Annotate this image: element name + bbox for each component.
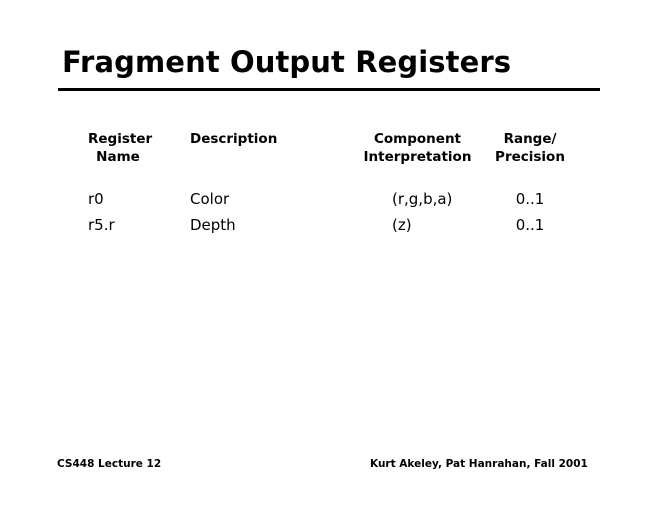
table-cell: r0 [70, 186, 170, 212]
table-column-cells: 0..1 0..1 [485, 186, 575, 238]
table-cell: (z) [355, 212, 480, 238]
title-divider [58, 88, 600, 91]
footer-lecture-label: CS448 Lecture 12 [57, 457, 161, 471]
column-header-line1: Range/ [485, 130, 575, 148]
table-column-cells: (r,g,b,a) (z) [355, 186, 480, 238]
column-header-line1: Description [190, 130, 350, 148]
column-header-component-interpretation: Component Interpretation [355, 130, 480, 166]
column-header-line1: Component [355, 130, 480, 148]
table-cell: Depth [180, 212, 350, 238]
column-header-range-precision: Range/ Precision [485, 130, 575, 166]
table-cell: Color [180, 186, 350, 212]
table-cell: r5.r [70, 212, 170, 238]
table-column-component-interpretation: Component Interpretation (r,g,b,a) (z) [355, 130, 480, 166]
table-column-register-name: Register Name r0 r5.r [70, 130, 170, 166]
column-header-line2: Precision [485, 148, 575, 166]
column-header-register-name: Register Name [70, 130, 170, 166]
table-cell: (r,g,b,a) [355, 186, 480, 212]
table-column-description: Description Color Depth [180, 130, 350, 148]
table-column-cells: r0 r5.r [70, 186, 170, 238]
slide-canvas: Fragment Output Registers Register Name … [0, 0, 660, 510]
table-cell: 0..1 [485, 212, 575, 238]
column-header-line2: Interpretation [355, 148, 480, 166]
column-header-line1: Register [88, 130, 170, 148]
table-cell: 0..1 [485, 186, 575, 212]
page-title: Fragment Output Registers [62, 45, 511, 79]
column-header-line2: Name [88, 148, 170, 166]
footer-authors-label: Kurt Akeley, Pat Hanrahan, Fall 2001 [370, 457, 588, 471]
table-column-cells: Color Depth [180, 186, 350, 238]
column-header-description: Description [180, 130, 350, 148]
table-column-range-precision: Range/ Precision 0..1 0..1 [485, 130, 575, 166]
